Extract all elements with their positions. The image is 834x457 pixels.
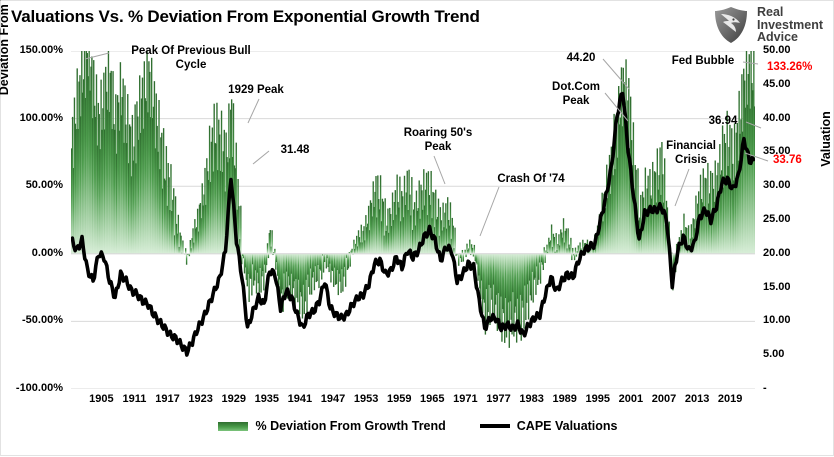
legend-label-deviation: % Deviation From Growth Trend <box>255 419 445 433</box>
legend-label-cape: CAPE Valuations <box>517 419 618 433</box>
value-44-20: 44.20 <box>559 52 603 66</box>
peak-of-previous-bull-cycle: Peak Of Previous Bull Cycle <box>111 45 271 72</box>
x-axis-tick: 1905 <box>89 393 113 405</box>
plot-area <box>71 51 755 389</box>
y-axis-right-tick: 5.00 <box>763 348 784 360</box>
y-axis-right-tick: 20.00 <box>763 247 791 259</box>
y-axis-right-label: Valuation <box>819 79 833 199</box>
legend-item-deviation: % Deviation From Growth Trend <box>218 419 445 433</box>
legend-swatch-green-bar <box>218 422 248 431</box>
legend-swatch-black-line <box>480 424 510 428</box>
y-axis-right-tick: 40.00 <box>763 112 791 124</box>
y-axis-right-tick: - <box>763 382 767 394</box>
y-axis-left-tick: 0.00% <box>1 247 63 259</box>
y-axis-left-tick: 50.00% <box>1 179 63 191</box>
legend-item-cape: CAPE Valuations <box>480 419 618 433</box>
chart-legend: % Deviation From Growth Trend CAPE Valua… <box>1 419 834 433</box>
value-133-26-pct: 133.26% <box>767 61 812 75</box>
y-axis-right-tick: 45.00 <box>763 78 791 90</box>
crash-of-74: Crash Of '74 <box>485 173 577 187</box>
y-axis-right-tick: 15.00 <box>763 281 791 293</box>
y-axis-right-tick: 25.00 <box>763 213 791 225</box>
dot-com-peak: Dot.Com Peak <box>540 81 612 108</box>
x-axis-tick: 1935 <box>255 393 279 405</box>
x-axis-tick: 1977 <box>486 393 510 405</box>
x-axis-tick: 1959 <box>387 393 411 405</box>
chart-canvas <box>71 51 755 389</box>
x-axis-tick: 1983 <box>519 393 543 405</box>
x-axis-tick: 1995 <box>586 393 610 405</box>
1929-peak: 1929 Peak <box>213 84 299 98</box>
x-axis-tick: 1911 <box>122 393 146 405</box>
y-axis-right-tick: 10.00 <box>763 314 791 326</box>
x-axis-tick: 1947 <box>321 393 345 405</box>
value-33-76: 33.76 <box>773 154 802 168</box>
x-axis-tick: 1941 <box>288 393 312 405</box>
x-axis-tick: 2013 <box>685 393 709 405</box>
x-axis-tick: 2007 <box>652 393 676 405</box>
x-axis-tick: 1971 <box>453 393 477 405</box>
x-axis-tick: 2019 <box>718 393 742 405</box>
x-axis-tick: 1917 <box>155 393 179 405</box>
x-axis-tick: 1953 <box>354 393 378 405</box>
y-axis-right-tick: 30.00 <box>763 179 791 191</box>
eagle-shield-icon <box>711 5 751 45</box>
fed-bubble: Fed Bubble <box>664 55 742 69</box>
x-axis-tick: 1989 <box>552 393 576 405</box>
valuations-chart-card: Valuations Vs. % Deviation From Exponent… <box>0 0 834 456</box>
value-36-94: 36.94 <box>701 115 745 129</box>
roaring-50s-peak: Roaring 50's Peak <box>395 127 481 154</box>
brand-line-3: Advice <box>757 30 798 44</box>
y-axis-left-label: Deviation From Trend <box>0 0 11 126</box>
y-axis-right-tick: 50.00 <box>763 44 791 56</box>
y-axis-left-tick: -50.00% <box>1 314 63 326</box>
value-31-48: 31.48 <box>273 144 317 158</box>
x-axis-tick: 1965 <box>420 393 444 405</box>
y-axis-left-tick: -100.00% <box>1 382 63 394</box>
x-axis-tick: 1923 <box>188 393 212 405</box>
x-axis-tick: 2001 <box>619 393 643 405</box>
financial-crisis: Financial Crisis <box>655 140 727 167</box>
x-axis-tick: 1929 <box>221 393 245 405</box>
y-axis-left-tick: 100.00% <box>1 112 63 124</box>
brand-text: Real Investment Advice <box>757 6 823 44</box>
brand-logo: Real Investment Advice <box>711 5 823 45</box>
y-axis-left-tick: 150.00% <box>1 44 63 56</box>
page-title: Valuations Vs. % Deviation From Exponent… <box>11 7 480 27</box>
